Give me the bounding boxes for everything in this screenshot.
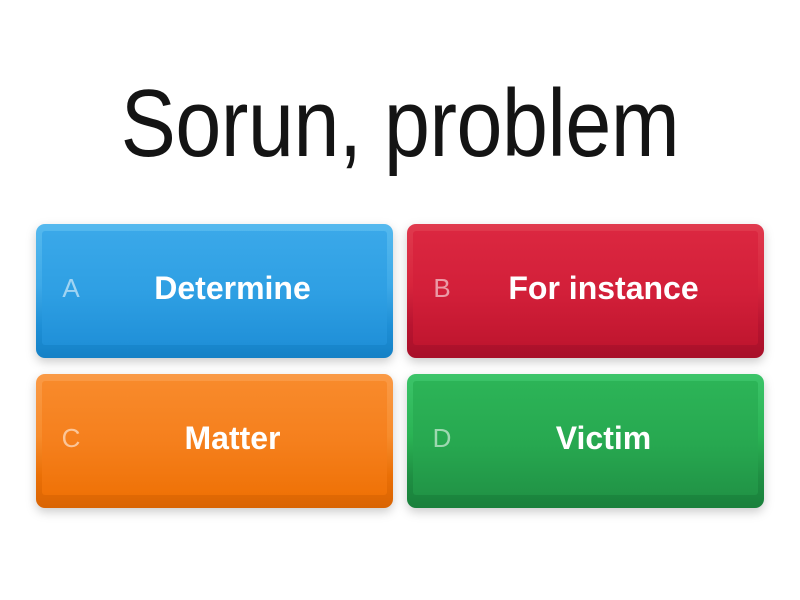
answer-option-a-label: Determine — [92, 271, 379, 306]
answer-options-grid: A Determine B For instance C Matter — [36, 224, 764, 508]
answer-option-a[interactable]: A Determine — [36, 224, 393, 358]
answer-option-c-label: Matter — [92, 421, 379, 456]
quiz-screen: Sorun, problem A Determine B For instanc… — [0, 0, 800, 600]
answer-option-d-letter: D — [421, 425, 463, 451]
answer-option-c[interactable]: C Matter — [36, 374, 393, 508]
answer-option-d-content: D Victim — [407, 374, 764, 508]
answer-option-b-letter: B — [421, 275, 463, 301]
answer-option-b[interactable]: B For instance — [407, 224, 764, 358]
answer-option-a-letter: A — [50, 275, 92, 301]
answer-option-c-letter: C — [50, 425, 92, 451]
answer-option-d[interactable]: D Victim — [407, 374, 764, 508]
answer-option-c-content: C Matter — [36, 374, 393, 508]
answer-option-b-content: B For instance — [407, 224, 764, 358]
answer-option-b-label: For instance — [463, 271, 750, 306]
answer-option-d-label: Victim — [463, 421, 750, 456]
answer-option-a-content: A Determine — [36, 224, 393, 358]
question-title: Sorun, problem — [56, 64, 744, 184]
